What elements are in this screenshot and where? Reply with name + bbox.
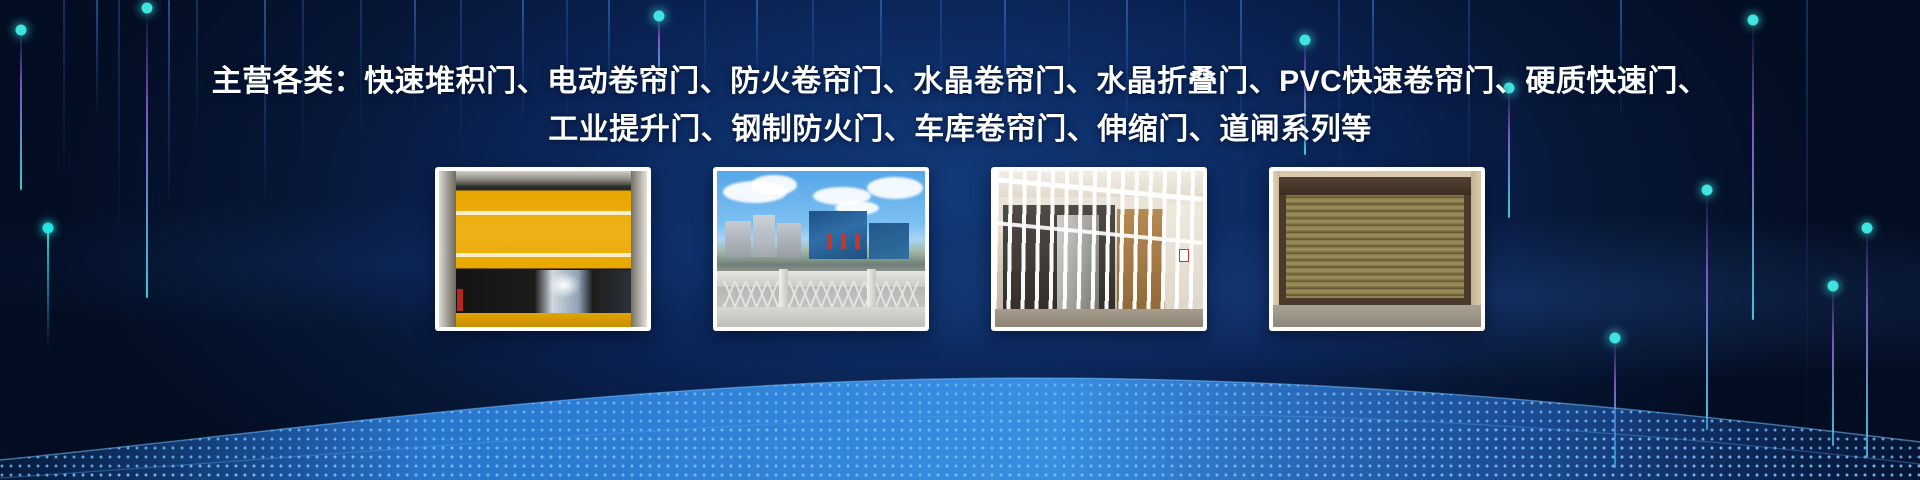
cloud-4	[867, 177, 923, 199]
building-1	[725, 221, 751, 257]
product-photo-card-1[interactable]	[435, 167, 651, 331]
headline-line-2: 工业提升门、钢制防火门、车库卷帘门、伸缩门、道闸系列等	[0, 106, 1920, 154]
door-opening	[456, 270, 631, 314]
product-photo-card-2[interactable]	[713, 167, 929, 331]
product-photo-card-4[interactable]	[1269, 167, 1485, 331]
retractable-gate-mesh	[723, 281, 919, 307]
shutter-slats	[1286, 184, 1464, 298]
product-photo-strip	[0, 167, 1920, 331]
floor	[995, 309, 1203, 327]
door-right-jamb	[631, 171, 647, 327]
rooftop-sign-1	[827, 233, 832, 249]
door-left-jamb	[439, 171, 456, 327]
product-photo-card-3[interactable]	[991, 167, 1207, 331]
rooftop-sign-3	[855, 233, 860, 249]
building-2	[753, 215, 775, 257]
door-interior-light	[547, 272, 581, 298]
garage-right-wall	[1471, 171, 1481, 327]
door-control-box	[457, 289, 463, 311]
wave-mesh-decoration	[0, 338, 1920, 480]
garage-ground	[1273, 305, 1481, 327]
pavement	[717, 307, 925, 327]
door-header-box	[439, 171, 647, 185]
wall-notice	[1179, 249, 1189, 262]
headline-line-1: 主营各类：快速堆积门、电动卷帘门、防火卷帘门、水晶卷帘门、水晶折叠门、PVC快速…	[0, 58, 1920, 106]
rooftop-sign-2	[841, 233, 846, 249]
glass-tower-2	[869, 223, 909, 259]
yellow-high-speed-stacking-door-image	[439, 171, 647, 327]
retractable-gate-outdoor-image	[717, 171, 925, 327]
door-band-1	[456, 211, 631, 215]
white-folding-gate-interior-image	[995, 171, 1203, 327]
shutter-lintel	[1279, 177, 1471, 195]
cloud-2	[751, 175, 797, 195]
headline-block: 主营各类：快速堆积门、电动卷帘门、防火卷帘门、水晶卷帘门、水晶折叠门、PVC快速…	[0, 58, 1920, 154]
pin-line-39	[1614, 338, 1616, 468]
door-bottom-bar	[456, 313, 631, 327]
hero-banner: 主营各类：快速堆积门、电动卷帘门、防火卷帘门、水晶卷帘门、水晶折叠门、PVC快速…	[0, 0, 1920, 480]
gate-post-right	[867, 269, 876, 309]
door-band-2	[456, 253, 631, 257]
gate-post-left	[779, 269, 788, 309]
bronze-rolling-shutter-garage-image	[1273, 171, 1481, 327]
building-3	[777, 223, 801, 257]
